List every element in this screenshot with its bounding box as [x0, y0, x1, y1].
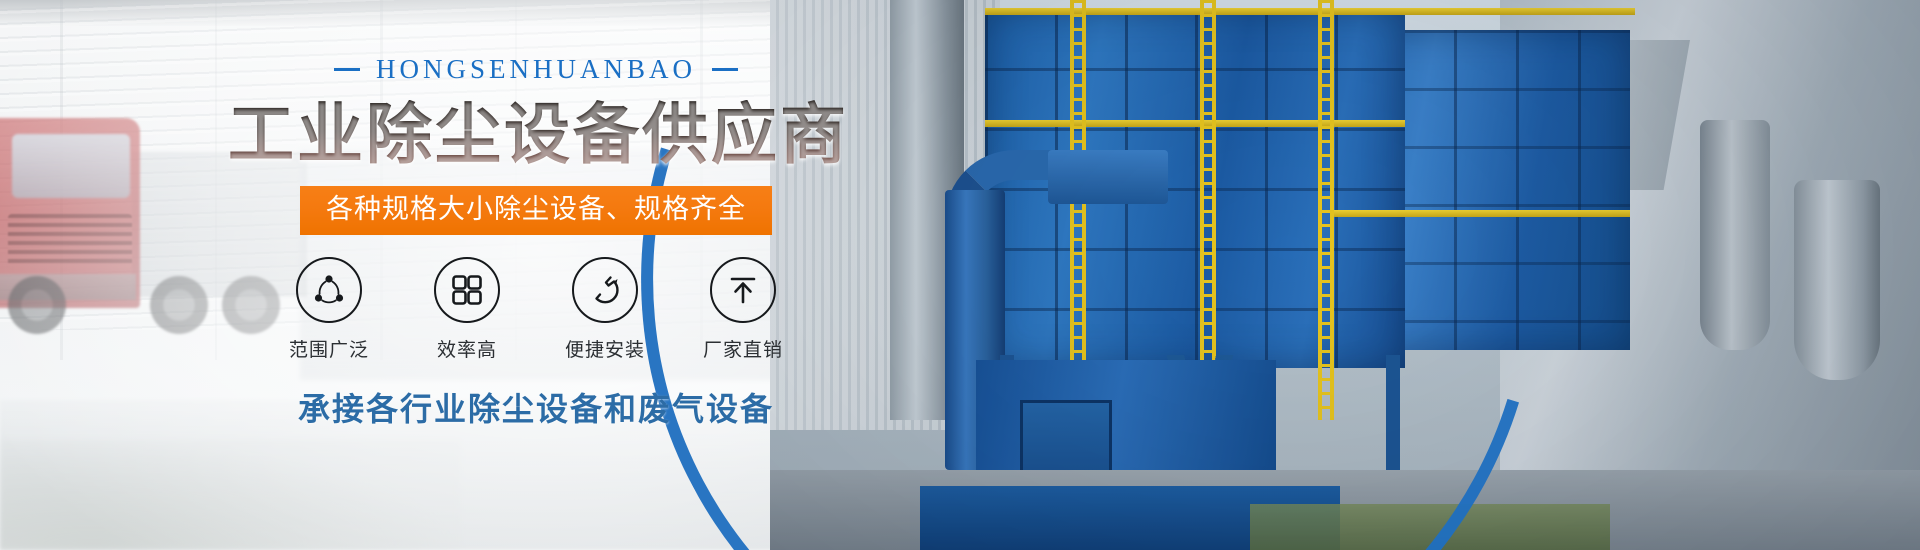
hero-tagline: 承接各行业除尘设备和废气设备: [228, 384, 844, 430]
photo-tone-overlay: [770, 0, 1920, 550]
grid-squares-icon: [434, 257, 500, 323]
subtitle-banner: 各种规格大小除尘设备、规格齐全: [300, 186, 772, 235]
feature-list: 范围广泛 效率高: [228, 257, 844, 362]
right-background-photo: [770, 0, 1920, 550]
feature-item-installation[interactable]: 便捷安装: [562, 257, 648, 362]
orange-bar-wrapper: 各种规格大小除尘设备、规格齐全: [228, 170, 844, 235]
dash-left-icon: [334, 68, 360, 71]
up-arrow-bar-icon: [710, 257, 776, 323]
hero-banner: HONGSENHUANBAO 工业除尘设备供应商 各种规格大小除尘设备、规格齐全: [0, 0, 1920, 550]
page-title: 工业除尘设备供应商: [228, 100, 844, 170]
feature-label: 效率高: [424, 335, 510, 362]
feature-label: 范围广泛: [286, 335, 372, 362]
feature-item-factory-direct[interactable]: 厂家直销: [700, 257, 786, 362]
feature-item-range[interactable]: 范围广泛: [286, 257, 372, 362]
share-nodes-icon: [296, 257, 362, 323]
feature-item-efficiency[interactable]: 效率高: [424, 257, 510, 362]
dash-right-icon: [712, 68, 738, 71]
brand-eyebrow: HONGSENHUANBAO: [228, 52, 844, 86]
hero-content: HONGSENHUANBAO 工业除尘设备供应商 各种规格大小除尘设备、规格齐全: [228, 52, 844, 430]
feature-label: 厂家直销: [700, 335, 786, 362]
feature-label: 便捷安装: [562, 335, 648, 362]
brand-eyebrow-text: HONGSENHUANBAO: [376, 56, 696, 83]
wrench-circle-icon: [572, 257, 638, 323]
